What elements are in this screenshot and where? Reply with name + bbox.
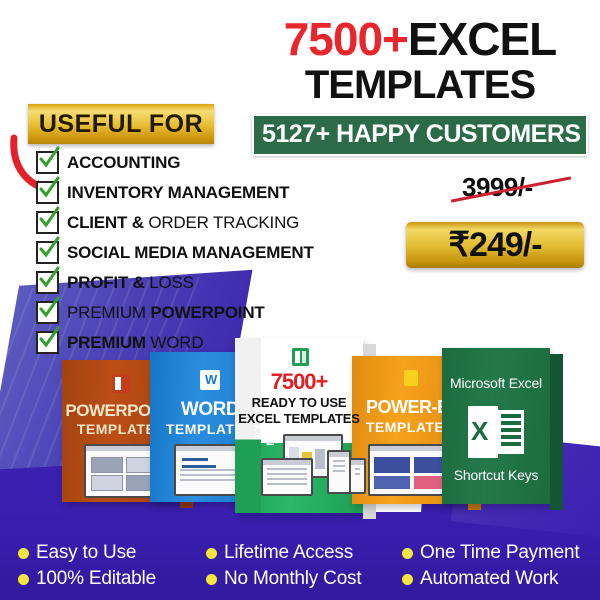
screen-toolbar: [263, 460, 311, 465]
list-item-label: ACCOUNTING: [67, 153, 180, 173]
list-item-light: LOSS: [149, 273, 194, 292]
bullet-icon: [18, 574, 29, 585]
bullet-icon: [18, 548, 29, 559]
feature-label: Easy to Use: [36, 542, 136, 564]
box-title-line1: Microsoft Excel: [442, 376, 550, 391]
list-item-bold: SOCIAL MEDIA MANAGEMENT: [67, 243, 314, 262]
list-item: CLIENT & ORDER TRACKING: [36, 210, 366, 235]
list-item-bold: CLIENT &: [67, 213, 144, 232]
box-side-panel: [550, 354, 563, 510]
headline-line-1: 7500+EXCEL: [252, 16, 588, 62]
excel-x-logo-icon: X: [468, 406, 526, 458]
checkbox-icon: [36, 211, 59, 234]
checkbox-icon: [36, 271, 59, 294]
powerpoint-logo-icon: [112, 374, 130, 393]
list-item-bold: PROFIT &: [67, 273, 145, 292]
feature-item: Lifetime Access: [206, 542, 402, 564]
box-title-line2: EXCEL TEMPLATES: [235, 412, 363, 426]
list-item: PREMIUM POWERPOINT: [36, 300, 366, 325]
headline-product: EXCEL: [408, 13, 556, 65]
feature-item: No Monthly Cost: [206, 568, 402, 590]
list-item-label: CLIENT & ORDER TRACKING: [67, 213, 299, 233]
headline-line-2: TEMPLATES: [252, 64, 588, 106]
useful-for-banner: USEFUL FOR: [28, 104, 214, 144]
bullet-icon: [206, 574, 217, 585]
product-box-excel-shortcut-keys[interactable]: Microsoft Excel X Shortcut Keys: [442, 348, 550, 504]
feature-label: Automated Work: [420, 568, 558, 590]
box-preview-tablet: [327, 450, 351, 494]
feature-label: One Time Payment: [420, 542, 579, 564]
list-item-label: INVENTORY MANAGEMENT: [67, 183, 289, 203]
promo-canvas: 7500+EXCEL TEMPLATES 5127+ HAPPY CUSTOME…: [0, 0, 600, 600]
word-logo-icon: W: [200, 370, 220, 390]
current-price: ₹249/-: [448, 225, 541, 265]
feature-label: 100% Editable: [36, 568, 156, 590]
old-price: 3999/-: [462, 172, 533, 203]
feature-item: One Time Payment: [402, 542, 579, 564]
header-block: 7500+EXCEL TEMPLATES 5127+ HAPPY CUSTOME…: [252, 16, 588, 156]
box-preview-phone: [349, 458, 366, 494]
checkbox-icon: [36, 301, 59, 324]
feature-item: Easy to Use: [18, 542, 206, 564]
excel-logo-icon: [292, 348, 309, 366]
feature-item: Automated Work: [402, 568, 558, 590]
feature-row: Easy to Use Lifetime Access One Time Pay…: [18, 542, 582, 564]
price-badge[interactable]: ₹249/-: [406, 222, 584, 268]
list-item-light: ORDER TRACKING: [148, 213, 299, 232]
box-count: 7500+: [235, 370, 363, 393]
feature-label: Lifetime Access: [224, 542, 353, 564]
feature-item: 100% Editable: [18, 568, 206, 590]
list-item: PROFIT & LOSS: [36, 270, 366, 295]
box-preview-laptop: [261, 458, 313, 496]
powerbi-logo-icon: [404, 370, 418, 386]
screen-toolbar: [351, 460, 364, 465]
bullet-icon: [206, 548, 217, 559]
box-title-line1: READY TO USE: [235, 396, 363, 410]
product-box-excel-master[interactable]: EXCEL MASTER 7500+ READY TO USE EXCEL TE…: [235, 338, 363, 513]
feature-label: No Monthly Cost: [224, 568, 361, 590]
feature-row: 100% Editable No Monthly Cost Automated …: [18, 568, 582, 590]
list-item: ACCOUNTING: [36, 150, 366, 175]
headline-count: 7500+: [284, 13, 408, 65]
bullet-icon: [402, 574, 413, 585]
product-box-lineup: POWERPOINT TEMPLATES W WORD TEMPLATES: [0, 330, 600, 530]
list-item: SOCIAL MEDIA MANAGEMENT: [36, 240, 366, 265]
checkbox-icon: [36, 241, 59, 264]
list-item-label: SOCIAL MEDIA MANAGEMENT: [67, 243, 314, 263]
box-title-line2: Shortcut Keys: [442, 468, 550, 483]
useful-for-label: USEFUL FOR: [39, 110, 203, 139]
bullet-icon: [402, 548, 413, 559]
screen-toolbar: [285, 436, 341, 441]
list-item-label: PREMIUM POWERPOINT: [67, 303, 265, 323]
list-item-bold: INVENTORY MANAGEMENT: [67, 183, 289, 202]
feature-list: Easy to Use Lifetime Access One Time Pay…: [0, 542, 600, 594]
checkbox-icon: [36, 181, 59, 204]
checkbox-icon: [36, 151, 59, 174]
list-item-label: PROFIT & LOSS: [67, 273, 194, 293]
useful-for-list: ACCOUNTING INVENTORY MANAGEMENT CLIENT &…: [36, 150, 366, 360]
list-item-light: PREMIUM: [67, 303, 146, 322]
screen-toolbar: [329, 452, 349, 457]
list-item-bold: ACCOUNTING: [67, 153, 180, 172]
list-item-bold: POWERPOINT: [150, 303, 264, 322]
list-item: INVENTORY MANAGEMENT: [36, 180, 366, 205]
